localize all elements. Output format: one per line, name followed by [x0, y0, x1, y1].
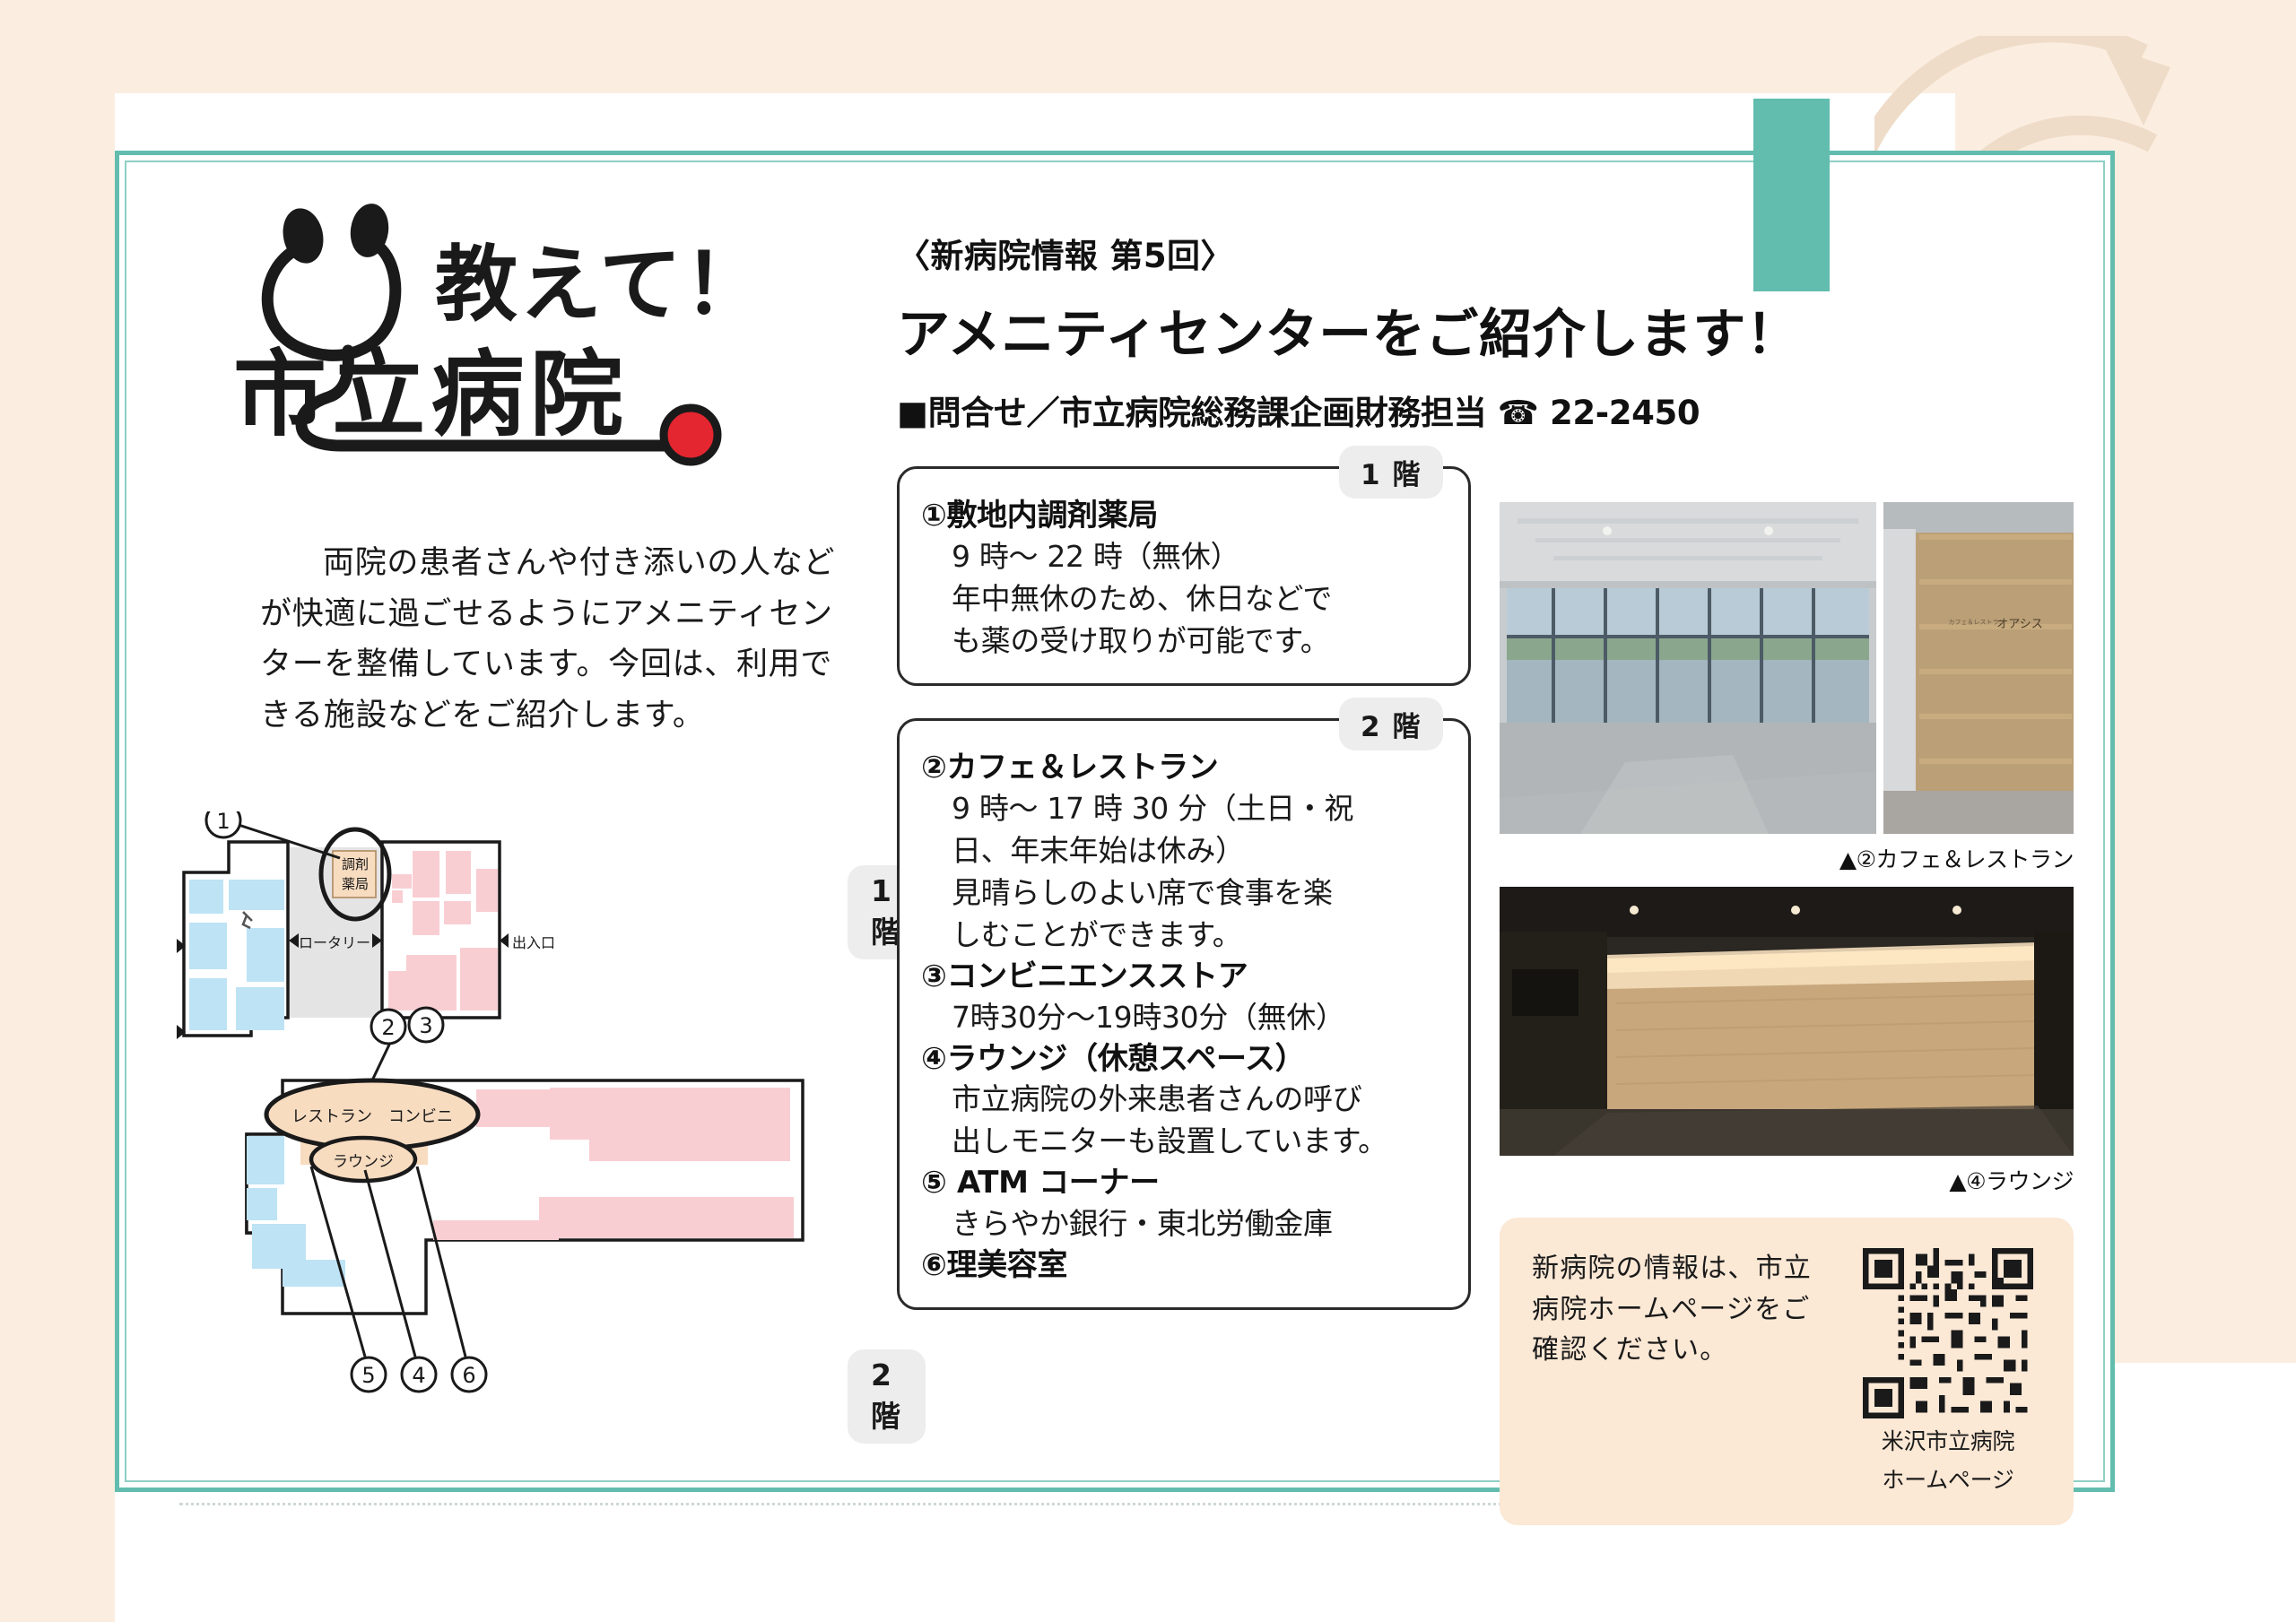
article-header: 〈新病院情報 第5回〉 アメニティセンターをご紹介します！ ■問合せ／市立病院総… [897, 229, 2081, 434]
svg-text:レストラン コンビニ: レストラン コンビニ [291, 1107, 453, 1126]
svg-text:ロータリー: ロータリー [299, 934, 370, 951]
svg-text:カフェ＆レストラン: カフェ＆レストラン [1949, 619, 2005, 626]
contact-line: ■問合せ／市立病院総務課企画財務担当 ☎ 22-2450 [897, 386, 2081, 434]
photo-row-cafe: オアシス カフェ＆レストラン [1500, 502, 2074, 834]
qr-block: 米沢市立病院 ホームページ [1855, 1248, 2041, 1495]
photo-cafe-interior [1500, 502, 1876, 834]
media-column: オアシス カフェ＆レストラン ▲②カフェ＆レストラン [1500, 502, 2074, 1525]
photo-cafe-sign-wall: オアシス カフェ＆レストラン [1883, 502, 2074, 834]
facility-item-line: きらやか銀行・東北労働金庫 [921, 1203, 1447, 1245]
info-box-floor2: 2 階 ②カフェ＆レストラン 9 時〜 17 時 30 分（土日・祝 日、年末年… [897, 718, 1471, 1309]
facility-item-line: 出しモニターも設置しています。 [921, 1121, 1447, 1163]
facility-item-line: 市立病院の外来患者さんの呼び [921, 1079, 1447, 1121]
info-box-floor1-tag: 1 階 [1339, 446, 1443, 499]
svg-text:6: 6 [462, 1363, 475, 1388]
intro-paragraph: 両院の患者さんや付き添いの人などが快適に過ごせるようにアメニティセンターを整備し… [260, 538, 852, 742]
floor-plan-diagram: 調剤 薬局 1 ロータリー 出入口 [157, 811, 901, 1439]
facility-item-line: 9 時〜 22 時（無休） [921, 536, 1447, 578]
qr-caption-line2: ホームページ [1855, 1466, 2041, 1496]
floor-maps: 1 階 2 階 [157, 811, 901, 1439]
facility-item-line: 年中無休のため、休日などで [921, 578, 1447, 620]
svg-text:調剤: 調剤 [342, 856, 369, 872]
background-band-left [0, 0, 115, 1622]
svg-text:2: 2 [381, 1015, 395, 1040]
facility-item-line: 7時30分〜19時30分（無休） [921, 997, 1447, 1039]
article-kicker: 〈新病院情報 第5回〉 [897, 229, 2081, 277]
photo-caption-cafe: ▲②カフェ＆レストラン [1500, 842, 2074, 874]
qr-caption-line1: 米沢市立病院 [1855, 1427, 2041, 1457]
facility-item-line: 見晴らしのよい席で食事を楽 [921, 872, 1447, 915]
facility-item-line: しむことができます。 [921, 915, 1447, 957]
qr-code-icon[interactable] [1863, 1248, 2033, 1418]
svg-text:ラウンジ: ラウンジ [333, 1153, 394, 1171]
facility-info-boxes: 1 階 ①敷地内調剤薬局 9 時〜 22 時（無休） 年中無休のため、休日などで… [897, 466, 1471, 1342]
photo-caption-lounge: ▲④ラウンジ [1500, 1164, 2074, 1196]
logo-title-line2: 市立病院 [233, 318, 629, 454]
facility-item-head: ③コンビニエンスストア [921, 957, 1447, 997]
facility-item-line: 日、年末年始は休み） [921, 830, 1447, 872]
facility-item-line: 9 時〜 17 時 30 分（土日・祝 [921, 788, 1447, 830]
floor2-badge: 2 階 [848, 1349, 926, 1444]
qr-info-box: 新病院の情報は、市立病院ホームページをご確認ください。 [1500, 1218, 2074, 1525]
logo: 教えて！ 市立病院 [242, 193, 897, 489]
photo-lounge-interior [1500, 887, 2074, 1156]
svg-text:薬局: 薬局 [342, 876, 369, 892]
info-box-floor2-tag: 2 階 [1339, 698, 1443, 750]
svg-text:1: 1 [216, 811, 230, 834]
svg-text:3: 3 [419, 1013, 432, 1038]
branding-block: 教えて！ 市立病院 [242, 193, 897, 489]
facility-item-head: ②カフェ＆レストラン [921, 748, 1447, 788]
facility-item-head: ⑤ ATM コーナー [921, 1163, 1447, 1203]
facility-item-head: ⑥理美容室 [921, 1245, 1447, 1286]
newsletter-page: 教えて！ 市立病院 両院の患者さんや付き添いの人などが快適に過ごせるようにアメニ… [0, 0, 2296, 1622]
article-headline: アメニティセンターをご紹介します！ [897, 291, 2081, 368]
facility-item-head: ①敷地内調剤薬局 [921, 496, 1447, 536]
svg-text:4: 4 [412, 1363, 425, 1388]
info-box-floor1: 1 階 ①敷地内調剤薬局 9 時〜 22 時（無休） 年中無休のため、休日などで… [897, 466, 1471, 686]
qr-info-text: 新病院の情報は、市立病院ホームページをご確認ください。 [1532, 1248, 1831, 1371]
facility-item-line: も薬の受け取りが可能です。 [921, 620, 1447, 663]
svg-text:出入口: 出入口 [512, 934, 555, 951]
svg-text:5: 5 [361, 1363, 375, 1388]
facility-item-head: ④ラウンジ（休憩スペース） [921, 1039, 1447, 1080]
